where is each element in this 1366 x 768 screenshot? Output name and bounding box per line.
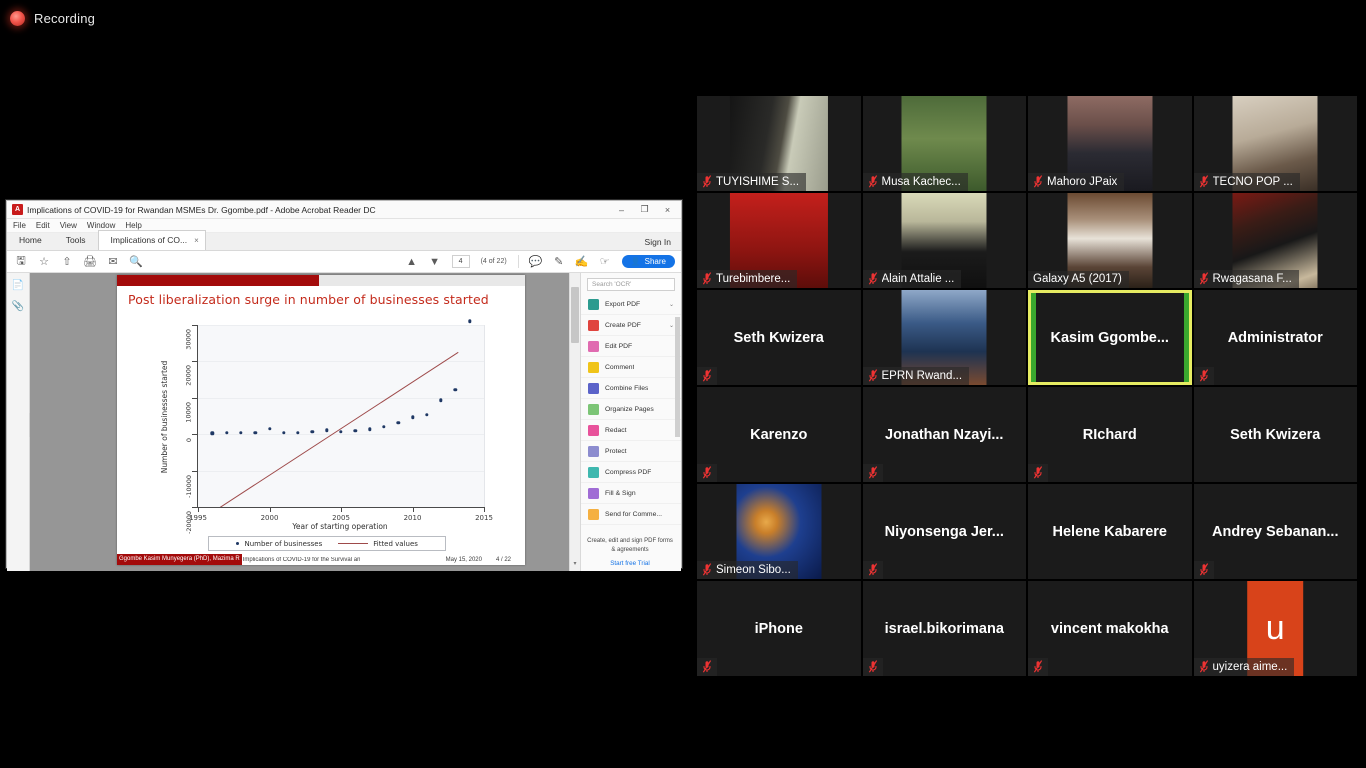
window-title: Implications of COVID-19 for Rwandan MSM…: [27, 205, 376, 215]
start-free-trial-link[interactable]: Start free Trial: [587, 560, 673, 567]
legend-label-line: Fitted values: [373, 540, 418, 548]
participant-tile[interactable]: Alain Attalie ...: [863, 193, 1027, 288]
participant-tile[interactable]: Galaxy A5 (2017): [1028, 193, 1192, 288]
tools-panel: Search 'OCR' Export PDF⌄Create PDF⌄Edit …: [580, 273, 681, 571]
zoom-out-icon[interactable]: 🔍: [130, 256, 142, 268]
tab-document-label: Implications of CO...: [111, 235, 188, 245]
participant-name: israel.bikorimana: [863, 621, 1027, 637]
participant-name: Helene Kabarere: [1028, 524, 1192, 540]
tool-label: Compress PDF: [605, 469, 651, 476]
participant-tile[interactable]: Jonathan Nzayi...: [863, 387, 1027, 482]
chart-x-tick: [484, 507, 485, 512]
participant-name: Mahoro JPaix: [1047, 176, 1117, 188]
participant-name: Turebimbere...: [716, 273, 790, 285]
zoom-participant-grid: TUYISHIME S...Musa Kachec...Mahoro JPaix…: [697, 96, 1357, 676]
chart-x-tick: [270, 507, 271, 512]
participant-name-bar: Rwagasana F...: [1194, 270, 1299, 288]
microphone-muted-icon: [868, 272, 878, 285]
microphone-muted-icon: [868, 466, 878, 479]
footer-author: Ggombe Kasim Munyegera (PhD), Mazima R: [117, 554, 242, 565]
participant-name: Rwagasana F...: [1213, 273, 1292, 285]
mute-indicator: [1194, 367, 1214, 385]
footer-document: Implications of COVID-19 for the Surviva…: [242, 557, 361, 563]
participant-name: Alain Attalie ...: [882, 273, 955, 285]
chart: -20000-100000100002000030000199520002005…: [162, 325, 484, 555]
legend-marker-icon: [236, 542, 239, 545]
minimize-button[interactable]: –: [610, 202, 633, 218]
participant-name-bar: Galaxy A5 (2017): [1028, 271, 1129, 288]
tool-icon: [588, 299, 599, 310]
participant-name-bar: TUYISHIME S...: [697, 173, 806, 191]
tool-item-fill-sign[interactable]: Fill & Sign: [581, 483, 681, 504]
microphone-muted-icon: [1033, 660, 1043, 673]
participant-tile[interactable]: Helene Kabarere: [1028, 484, 1192, 579]
tool-icon: [588, 341, 599, 352]
participant-tile[interactable]: TECNO POP ...: [1194, 96, 1358, 191]
participant-name-bar: Musa Kachec...: [863, 173, 968, 191]
tab-bar: Home Tools Implications of CO... × Sign …: [7, 233, 681, 251]
tools-panel-scrollbar[interactable]: [675, 291, 680, 541]
tool-item-create-pdf[interactable]: Create PDF⌄: [581, 315, 681, 336]
next-page-icon[interactable]: ▼: [429, 256, 441, 268]
chart-x-tick-label: 2015: [475, 514, 493, 522]
participant-name: Musa Kachec...: [882, 176, 961, 188]
tool-label: Comment: [605, 364, 634, 371]
save-icon[interactable]: 🖫: [15, 256, 27, 268]
microphone-muted-icon: [702, 175, 712, 188]
mute-indicator: [863, 658, 883, 676]
tool-icon: [588, 446, 599, 457]
participant-name: Simeon Sibo...: [716, 564, 791, 576]
participant-tile[interactable]: israel.bikorimana: [863, 581, 1027, 676]
participant-name-bar: TECNO POP ...: [1194, 173, 1300, 191]
menu-item-file[interactable]: File: [13, 221, 26, 230]
sign-in-button[interactable]: Sign In: [645, 237, 681, 247]
mute-indicator: [1028, 658, 1048, 676]
print-icon[interactable]: 🖨: [84, 256, 96, 268]
tool-label: Redact: [605, 427, 627, 434]
chart-y-tick-label: 0: [185, 438, 193, 442]
mute-indicator: [1194, 561, 1214, 579]
chart-x-tick-label: 2005: [332, 514, 350, 522]
chart-y-tick: [192, 325, 197, 326]
email-icon[interactable]: ✉: [107, 256, 119, 268]
participant-name: TUYISHIME S...: [716, 176, 799, 188]
chart-y-tick-label: -10000: [185, 475, 193, 498]
chart-y-tick: [192, 471, 197, 472]
microphone-muted-icon: [868, 660, 878, 673]
participant-name: vincent makokha: [1028, 621, 1192, 637]
chart-y-tick: [192, 434, 197, 435]
participant-tile[interactable]: RIchard: [1028, 387, 1192, 482]
microphone-muted-icon: [702, 563, 712, 576]
footer-date: May 15, 2020: [446, 557, 482, 563]
microphone-muted-icon: [1033, 175, 1043, 188]
tab-close-icon[interactable]: ×: [194, 236, 199, 245]
share-person-icon: 👤: [631, 257, 641, 266]
tool-item-comment[interactable]: Comment: [581, 357, 681, 378]
mute-indicator: [697, 464, 717, 482]
legend-item-line: Fitted values: [338, 540, 418, 548]
participant-name-bar: uyizera aime...: [1194, 658, 1295, 676]
tab-document[interactable]: Implications of CO... ×: [98, 230, 206, 250]
tab-home[interactable]: Home: [7, 231, 54, 250]
acrobat-reader-window: A Implications of COVID-19 for Rwandan M…: [6, 200, 682, 568]
participant-name: iPhone: [697, 621, 861, 637]
participant-tile[interactable]: Andrey Sebanan...: [1194, 484, 1358, 579]
microphone-muted-icon: [868, 175, 878, 188]
document-vertical-scrollbar[interactable]: ▾: [569, 273, 580, 571]
microphone-muted-icon: [702, 369, 712, 382]
tool-icon: [588, 488, 599, 499]
menu-item-view[interactable]: View: [60, 221, 77, 230]
share-button[interactable]: 👤 Share: [622, 255, 675, 268]
window-body: 📄 📎 ◂ Post liberalization surge in numbe…: [7, 273, 681, 571]
toolbar-divider: [518, 255, 519, 268]
sign-icon[interactable]: ☞: [599, 256, 611, 268]
tool-label: Edit PDF: [605, 343, 632, 350]
page-number-input[interactable]: 4: [452, 255, 470, 268]
participant-name-bar: Simeon Sibo...: [697, 561, 798, 579]
upload-cloud-icon[interactable]: ⇧: [61, 256, 73, 268]
participant-tile[interactable]: Seth Kwizera: [697, 290, 861, 385]
tool-item-combine-files[interactable]: Combine Files: [581, 378, 681, 399]
microphone-muted-icon: [1199, 660, 1209, 673]
recording-dot-icon: [10, 11, 25, 26]
microphone-muted-icon: [1199, 175, 1209, 188]
tool-label: Send for Comme...: [605, 511, 662, 518]
previous-page-icon[interactable]: ▲: [406, 256, 418, 268]
participant-name: Administrator: [1194, 330, 1358, 346]
microphone-muted-icon: [702, 466, 712, 479]
microphone-muted-icon: [1199, 563, 1209, 576]
participant-name-bar: Mahoro JPaix: [1028, 173, 1124, 191]
promo-block: Create, edit and sign PDF forms & agreem…: [587, 537, 673, 567]
participant-name: Niyonsenga Jer...: [863, 524, 1027, 540]
tool-icon: [588, 320, 599, 331]
tool-label: Export PDF: [605, 301, 640, 308]
mute-indicator: [863, 561, 883, 579]
chart-y-tick: [192, 507, 197, 508]
window-controls: – ❐ ×: [610, 202, 679, 218]
participant-tile[interactable]: TUYISHIME S...: [697, 96, 861, 191]
participant-tile[interactable]: Niyonsenga Jer...: [863, 484, 1027, 579]
scroll-down-arrow[interactable]: ▾: [571, 560, 579, 571]
participant-tile[interactable]: Karenzo: [697, 387, 861, 482]
legend-label-scatter: Number of businesses: [244, 540, 322, 548]
slide-footer: Ggombe Kasim Munyegera (PhD), Mazima R I…: [117, 554, 525, 565]
chart-fitted-line: [198, 325, 484, 507]
menu-item-edit[interactable]: Edit: [36, 221, 50, 230]
chart-x-tick: [198, 507, 199, 512]
participant-tile[interactable]: Kasim Ggombe...: [1028, 290, 1192, 385]
tool-item-compress-pdf[interactable]: Compress PDF: [581, 462, 681, 483]
draw-icon[interactable]: ✍: [576, 256, 588, 268]
pdf-page: Post liberalization surge in number of b…: [117, 275, 525, 565]
tool-icon: [588, 467, 599, 478]
tool-label: Combine Files: [605, 385, 648, 392]
microphone-muted-icon: [868, 563, 878, 576]
page-count-label: (4 of 22): [481, 258, 507, 265]
tool-item-organize-pages[interactable]: Organize Pages: [581, 399, 681, 420]
participant-name-bar: Alain Attalie ...: [863, 270, 962, 288]
tool-icon: [588, 509, 599, 520]
tool-item-protect[interactable]: Protect: [581, 441, 681, 462]
participant-name: RIchard: [1028, 427, 1192, 443]
promo-text: Create, edit and sign PDF forms & agreem…: [587, 537, 673, 555]
microphone-muted-icon: [868, 369, 878, 382]
participant-tile[interactable]: iPhone: [697, 581, 861, 676]
participant-tile[interactable]: uuyizera aime...: [1194, 581, 1358, 676]
microphone-muted-icon: [1033, 466, 1043, 479]
participant-tile[interactable]: Mahoro JPaix: [1028, 96, 1192, 191]
participant-tile[interactable]: Simeon Sibo...: [697, 484, 861, 579]
menu-item-help[interactable]: Help: [125, 221, 141, 230]
chart-x-tick: [413, 507, 414, 512]
recording-indicator: Recording: [10, 11, 95, 26]
highlight-icon[interactable]: ✎: [553, 256, 565, 268]
mute-indicator: [1028, 464, 1048, 482]
tab-tools[interactable]: Tools: [54, 231, 98, 250]
tool-label: Protect: [605, 448, 627, 455]
chart-y-tick-label: 20000: [185, 365, 193, 386]
participant-name-bar: EPRN Rwand...: [863, 367, 970, 385]
participant-tile[interactable]: Musa Kachec...: [863, 96, 1027, 191]
star-icon[interactable]: ☆: [38, 256, 50, 268]
page-thumbnails-icon[interactable]: 📄: [12, 279, 24, 291]
chart-y-tick: [192, 361, 197, 362]
tool-item-send-for-comme[interactable]: Send for Comme...: [581, 504, 681, 525]
chart-x-tick-label: 1995: [189, 514, 207, 522]
participant-tile[interactable]: Turebimbere...: [697, 193, 861, 288]
microphone-muted-icon: [702, 272, 712, 285]
chevron-down-icon[interactable]: ⌄: [669, 322, 674, 329]
recording-label: Recording: [34, 11, 95, 26]
tool-icon: [588, 425, 599, 436]
comment-icon[interactable]: 💬: [530, 256, 542, 268]
participant-name: Kasim Ggombe...: [1028, 330, 1192, 346]
mute-indicator: [697, 367, 717, 385]
mute-indicator: [697, 658, 717, 676]
tool-label: Fill & Sign: [605, 490, 636, 497]
participant-tile[interactable]: Seth Kwizera: [1194, 387, 1358, 482]
participant-tile[interactable]: Administrator: [1194, 290, 1358, 385]
scrollbar-thumb[interactable]: [571, 287, 579, 343]
participant-name: TECNO POP ...: [1213, 176, 1293, 188]
window-titlebar[interactable]: A Implications of COVID-19 for Rwandan M…: [7, 201, 681, 219]
chart-point: [468, 320, 471, 323]
chart-x-tick-label: 2000: [261, 514, 279, 522]
restore-button[interactable]: ❐: [633, 202, 656, 218]
tool-icon: [588, 362, 599, 373]
acrobat-logo-icon: A: [12, 204, 23, 215]
participant-name: uyizera aime...: [1213, 661, 1288, 673]
legend-item-scatter: Number of businesses: [236, 540, 322, 548]
navigation-pane: 📄 📎: [7, 273, 30, 571]
participant-tile[interactable]: vincent makokha: [1028, 581, 1192, 676]
tool-label: Organize Pages: [605, 406, 654, 413]
share-label: Share: [645, 257, 666, 266]
participant-name: Jonathan Nzayi...: [863, 427, 1027, 443]
participant-name: Seth Kwizera: [1194, 427, 1358, 443]
chart-legend: Number of businesses Fitted values: [208, 536, 446, 551]
participant-name: Karenzo: [697, 427, 861, 443]
tool-item-redact[interactable]: Redact: [581, 420, 681, 441]
chart-x-tick-label: 2010: [404, 514, 422, 522]
chart-y-axis-title: Number of businesses started: [160, 361, 169, 474]
microphone-muted-icon: [1199, 369, 1209, 382]
tool-icon: [588, 383, 599, 394]
close-button[interactable]: ×: [656, 202, 679, 218]
participant-name: Seth Kwizera: [697, 330, 861, 346]
footer-page-number: 4 / 22: [496, 557, 511, 563]
document-viewport[interactable]: Post liberalization surge in number of b…: [30, 273, 569, 571]
legend-line-icon: [338, 543, 368, 544]
chevron-down-icon[interactable]: ⌄: [669, 301, 674, 308]
search-input[interactable]: Search 'OCR': [587, 278, 675, 291]
chart-y-tick-label: 30000: [185, 329, 193, 350]
participant-name: Galaxy A5 (2017): [1033, 273, 1122, 285]
microphone-muted-icon: [1199, 272, 1209, 285]
participant-tile[interactable]: EPRN Rwand...: [863, 290, 1027, 385]
microphone-muted-icon: [702, 660, 712, 673]
tool-icon: [588, 404, 599, 415]
chart-y-tick: [192, 398, 197, 399]
mute-indicator: [863, 464, 883, 482]
screen: Recording A Implications of COVID-19 for…: [0, 0, 1366, 768]
participant-name: EPRN Rwand...: [882, 370, 963, 382]
chart-x-tick: [341, 507, 342, 512]
document-toolbar: 🖫 ☆ ⇧ 🖨 ✉ 🔍 ▲ ▼ 4 (4 of 22) 💬 ✎ ✍ ☞ 👤 Sh…: [7, 251, 681, 273]
tool-item-edit-pdf[interactable]: Edit PDF: [581, 336, 681, 357]
slide-title: Post liberalization surge in number of b…: [117, 286, 525, 307]
tool-label: Create PDF: [605, 322, 641, 329]
chart-y-tick-label: 10000: [185, 402, 193, 423]
slide-top-accent: [117, 275, 525, 286]
participant-name: Andrey Sebanan...: [1194, 524, 1358, 540]
chart-x-axis-title: Year of starting operation: [292, 522, 387, 531]
participant-tile[interactable]: Rwagasana F...: [1194, 193, 1358, 288]
menu-item-window[interactable]: Window: [87, 221, 115, 230]
attachments-icon[interactable]: 📎: [12, 300, 24, 312]
tool-item-export-pdf[interactable]: Export PDF⌄: [581, 294, 681, 315]
participant-name-bar: Turebimbere...: [697, 270, 797, 288]
